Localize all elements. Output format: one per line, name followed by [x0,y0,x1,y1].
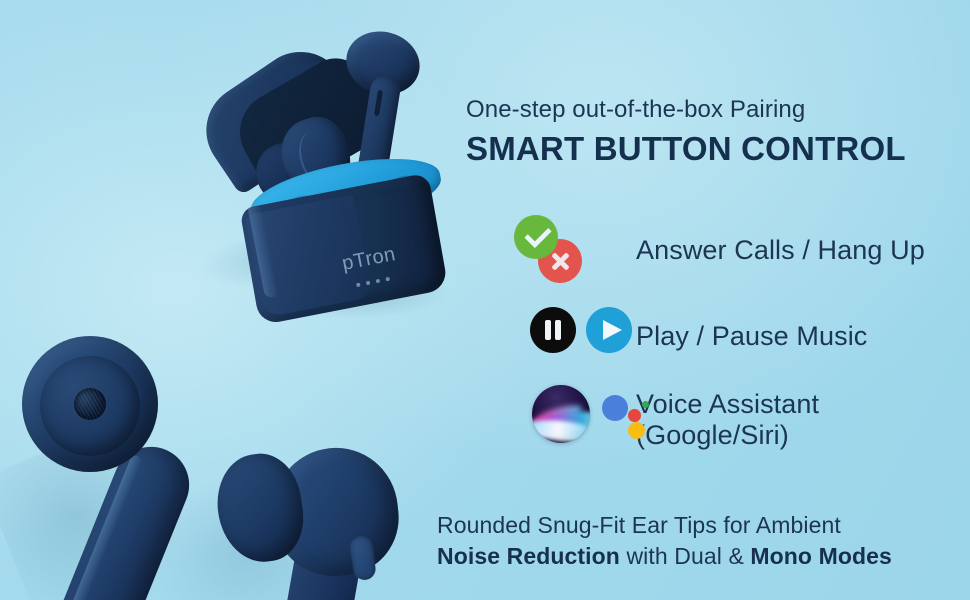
tagline-noise-reduction: Noise Reduction [437,543,620,569]
feature-icons-assistant [508,383,636,457]
tagline-middle-text: with Dual & [620,543,750,569]
charging-case-illustration: pTron [196,18,496,328]
feature-label-voice-line1: Voice Assistant [636,389,819,420]
tagline-line-2: Noise Reduction with Dual & Mono Modes [437,541,937,572]
feature-list: Answer Calls / Hang Up Play / Pause Musi… [508,205,958,463]
siri-orb-icon [532,385,590,443]
tagline-line-1: Rounded Snug-Fit Ear Tips for Ambient [437,510,937,541]
ga-dot-yellow [628,422,645,439]
led-dot [385,277,390,282]
pause-circle-icon [530,307,576,353]
feature-row-voice-assistant: Voice Assistant (Google/Siri) [508,377,958,463]
earbud-left-driver-mesh [74,388,106,420]
feature-row-answer-calls: Answer Calls / Hang Up [508,205,958,295]
feature-label-play-pause: Play / Pause Music [636,321,867,352]
ga-dot-green [642,401,649,408]
led-dot [366,281,371,286]
pause-bar [545,320,551,340]
feature-row-play-pause: Play / Pause Music [508,295,958,377]
ga-dot-blue [602,395,628,421]
ga-dot-red [628,409,641,422]
feature-label-voice-assistant: Voice Assistant (Google/Siri) [636,389,819,451]
headline-subtitle: One-step out-of-the-box Pairing [466,96,936,124]
product-feature-banner: pTron One-step out-of-the-box Pairing SM… [0,0,970,600]
check-circle-icon [514,215,558,259]
feature-label-voice-line2: (Google/Siri) [636,420,819,451]
play-circle-icon [586,307,632,353]
feature-icons-music [508,299,636,373]
headline-title: SMART BUTTON CONTROL [466,130,936,168]
tagline-mono-modes: Mono Modes [750,543,892,569]
google-assistant-icon [602,389,654,439]
feature-label-answer-calls: Answer Calls / Hang Up [636,235,925,266]
led-dot [356,283,361,288]
feature-icons-call [508,213,636,287]
tagline-block: Rounded Snug-Fit Ear Tips for Ambient No… [437,510,937,572]
led-dot [376,279,381,284]
headline-block: One-step out-of-the-box Pairing SMART BU… [466,96,936,168]
earbuds-closeup-illustration [0,330,430,600]
pause-bar [555,320,561,340]
